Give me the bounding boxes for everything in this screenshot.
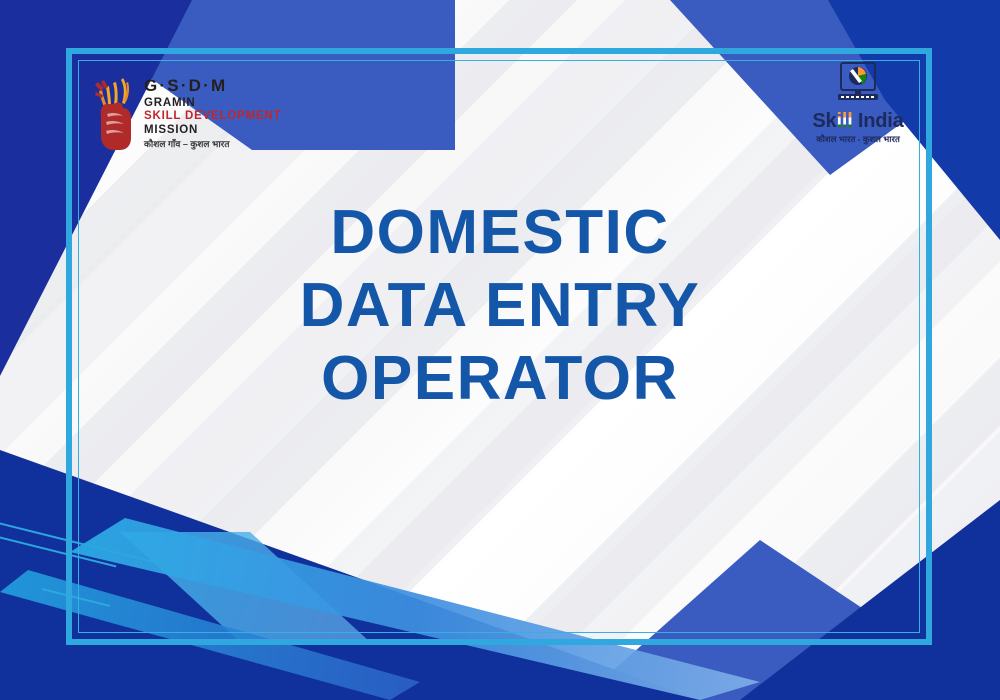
gsdm-tagline-hindi: कौशल गाँव – कुशल भारत [144, 140, 281, 149]
title-line-3: OPERATOR [110, 342, 890, 415]
computer-monitor-emblem-icon [832, 62, 884, 108]
skill-india-word-tricolor: ill [836, 110, 852, 132]
presentation-slide: G·S·D·M GRAMIN SKILL DEVELOPMENT MISSION… [0, 0, 1000, 700]
skill-india-word-part1: Sk [812, 110, 836, 132]
gsdm-logo: G·S·D·M GRAMIN SKILL DEVELOPMENT MISSION… [92, 74, 281, 152]
slide-title: DOMESTIC DATA ENTRY OPERATOR [110, 196, 890, 415]
gsdm-line-mission: MISSION [144, 125, 281, 137]
gsdm-line-gramin: GRAMIN [144, 98, 281, 110]
skill-india-tagline-hindi: कौशल भारत - कुशल भारत [798, 134, 918, 145]
title-line-2: DATA ENTRY [110, 269, 890, 342]
gsdm-abbreviation: G·S·D·M [144, 77, 281, 94]
skill-india-logo: Skill India कौशल भारत - कुशल भारत [798, 62, 918, 145]
skill-india-wordmark: Skill India [798, 111, 918, 131]
hand-holding-wheat-icon [92, 74, 138, 152]
skill-india-word-part3: India [853, 110, 904, 132]
title-line-1: DOMESTIC [110, 196, 890, 269]
gsdm-line-skill-development: SKILL DEVELOPMENT [144, 111, 281, 123]
